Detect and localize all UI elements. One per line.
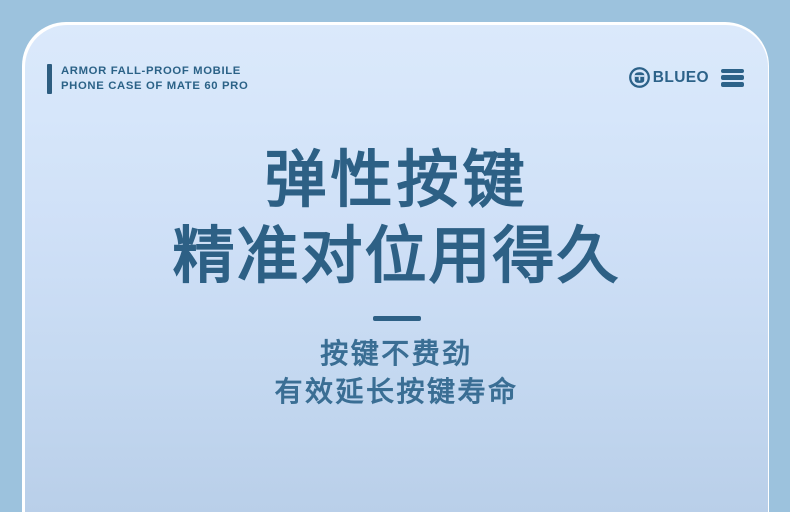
hamburger-bar-3	[721, 82, 744, 87]
eyebrow-line-2: PHONE CASE OF MATE 60 PRO	[61, 79, 248, 94]
hamburger-menu-icon[interactable]	[721, 69, 744, 87]
hamburger-bar-2	[721, 75, 744, 80]
subtitle-line-2: 有效延长按键寿命	[25, 373, 768, 411]
promo-panel: ARMOR FALL-PROOF MOBILE PHONE CASE OF MA…	[25, 25, 768, 512]
blueo-shield-icon	[629, 67, 650, 88]
eyebrow-line-1: ARMOR FALL-PROOF MOBILE	[61, 64, 248, 79]
panel-header: ARMOR FALL-PROOF MOBILE PHONE CASE OF MA…	[25, 25, 768, 101]
subtitle-line-1: 按键不费劲	[25, 335, 768, 373]
header-right-group: BLUEO	[629, 67, 744, 88]
hamburger-bar-1	[721, 69, 744, 74]
hero-subtitle-block: 按键不费劲 有效延长按键寿命	[25, 335, 768, 411]
headline-line-1: 弹性按键	[25, 149, 768, 211]
eyebrow-text-block: ARMOR FALL-PROOF MOBILE PHONE CASE OF MA…	[61, 64, 248, 94]
hero-section: 弹性按键 精准对位用得久 按键不费劲 有效延长按键寿命	[25, 149, 768, 411]
headline-line-2: 精准对位用得久	[25, 225, 768, 287]
brand-wordmark: BLUEO	[653, 70, 709, 86]
eyebrow-accent-bar	[47, 64, 52, 94]
hero-divider	[373, 316, 421, 321]
page-stage: ARMOR FALL-PROOF MOBILE PHONE CASE OF MA…	[0, 0, 790, 512]
product-eyebrow: ARMOR FALL-PROOF MOBILE PHONE CASE OF MA…	[47, 64, 248, 94]
brand-logo[interactable]: BLUEO	[629, 67, 709, 88]
